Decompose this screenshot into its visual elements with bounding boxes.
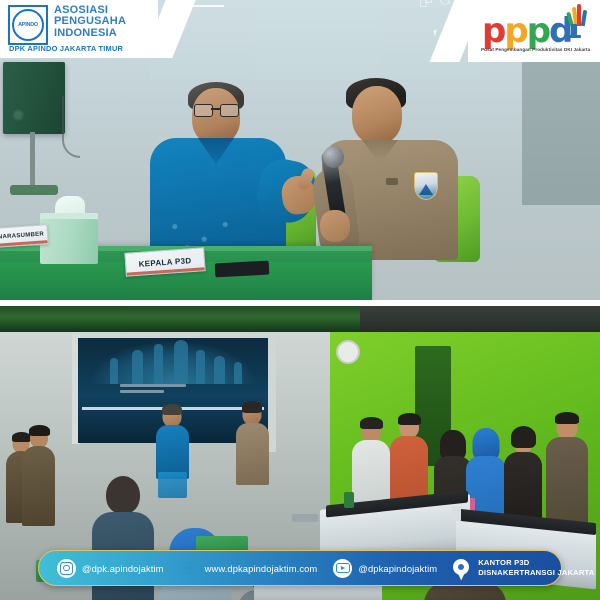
address-block: KANTOR P3D DISNAKERTRANSGI JAKARTA	[478, 558, 594, 577]
contact-bar: @dpk.apindojaktim www.dpkapindojaktim.co…	[38, 550, 562, 586]
water-bottle	[344, 492, 354, 508]
wall-clock-icon	[336, 340, 360, 364]
document-stack	[292, 514, 318, 522]
youtube-handle: @dpkapindojaktim	[358, 563, 437, 574]
nameplate-narasumber-label: NARASUMBER	[0, 231, 44, 240]
uniform-name-tag	[386, 178, 398, 185]
tissue-box	[40, 219, 98, 264]
speaker-cable	[62, 96, 80, 158]
instagram-handle: @dpk.apindojaktim	[82, 563, 164, 574]
poster-canvas: Slide 1 of 1	[0, 0, 600, 600]
projector-screen-top: Slide 1 of 1	[150, 0, 480, 80]
speaker-two-head	[352, 86, 402, 144]
smartphone-on-table	[215, 261, 270, 278]
slide-heading-text	[120, 384, 190, 400]
pppd-letter-1: p	[482, 18, 504, 45]
contact-item-website[interactable]: www.dpkapindojaktim.com	[172, 559, 326, 578]
website-url: www.dpkapindojaktim.com	[205, 563, 318, 574]
apindo-line-3: INDONESIA	[54, 28, 126, 39]
torch-base	[567, 35, 581, 38]
torch-flame	[568, 4, 586, 26]
youtube-icon	[333, 559, 352, 578]
slide-temple-illustration	[88, 340, 258, 384]
pppd-tagline: Pusat Pengembangan Produktivitas DKI Jak…	[481, 47, 590, 52]
apindo-wordmark: ASOSIASI PENGUSAHA INDONESIA	[54, 5, 126, 39]
pen-icon	[400, 0, 411, 6]
water-bottle	[452, 506, 461, 521]
pppd-logo-badge: p p p d Pusat Pengembangan Produktivitas…	[468, 0, 600, 62]
back-wall-panel	[522, 55, 600, 205]
address-line-2: DISNAKERTRANSGI JAKARTA	[478, 568, 594, 578]
address-line-1: KANTOR P3D	[478, 558, 594, 568]
presenter-blue-shirt	[152, 406, 192, 498]
pppd-letter-2: p	[504, 18, 526, 45]
apindo-logo-mark-icon: APINDO	[8, 5, 48, 45]
globe-icon	[180, 559, 199, 578]
eyeglasses-icon	[194, 104, 238, 116]
contact-item-address[interactable]: KANTOR P3D DISNAKERTRANSGI JAKARTA	[445, 558, 600, 577]
contact-item-instagram[interactable]: @dpk.apindojaktim	[49, 559, 172, 578]
loudspeaker	[3, 62, 65, 134]
card-icon	[420, 0, 431, 6]
nameplate-narasumber: NARASUMBER	[0, 224, 49, 248]
ceiling-band	[0, 306, 600, 332]
speaker-two-hand	[320, 210, 350, 242]
presenter-khaki-uniform	[232, 404, 272, 498]
magnifier-icon	[440, 0, 451, 6]
pppd-wordmark: p p p d	[482, 18, 571, 45]
apindo-logo-mark-label: APINDO	[18, 22, 38, 28]
contact-item-youtube[interactable]: @dpkapindojaktim	[325, 559, 445, 578]
pppd-letter-3: p	[527, 18, 549, 45]
torch-icon	[563, 4, 589, 38]
jakarta-emblem-patch-icon	[414, 172, 438, 200]
nameplate-kepala-p3d-label: KEPALA P3D	[138, 256, 191, 269]
photo-divider	[0, 300, 600, 306]
speaker-stand-base	[10, 185, 58, 195]
apindo-logo-badge: APINDO ASOSIASI PENGUSAHA INDONESIA DPK …	[0, 0, 158, 58]
attendee-figure	[22, 428, 56, 528]
speaker-stand-pole	[30, 132, 35, 187]
apindo-subtitle: DPK APINDO JAKARTA TIMUR	[9, 44, 123, 53]
location-pin-icon	[453, 559, 472, 578]
instagram-icon	[57, 559, 76, 578]
